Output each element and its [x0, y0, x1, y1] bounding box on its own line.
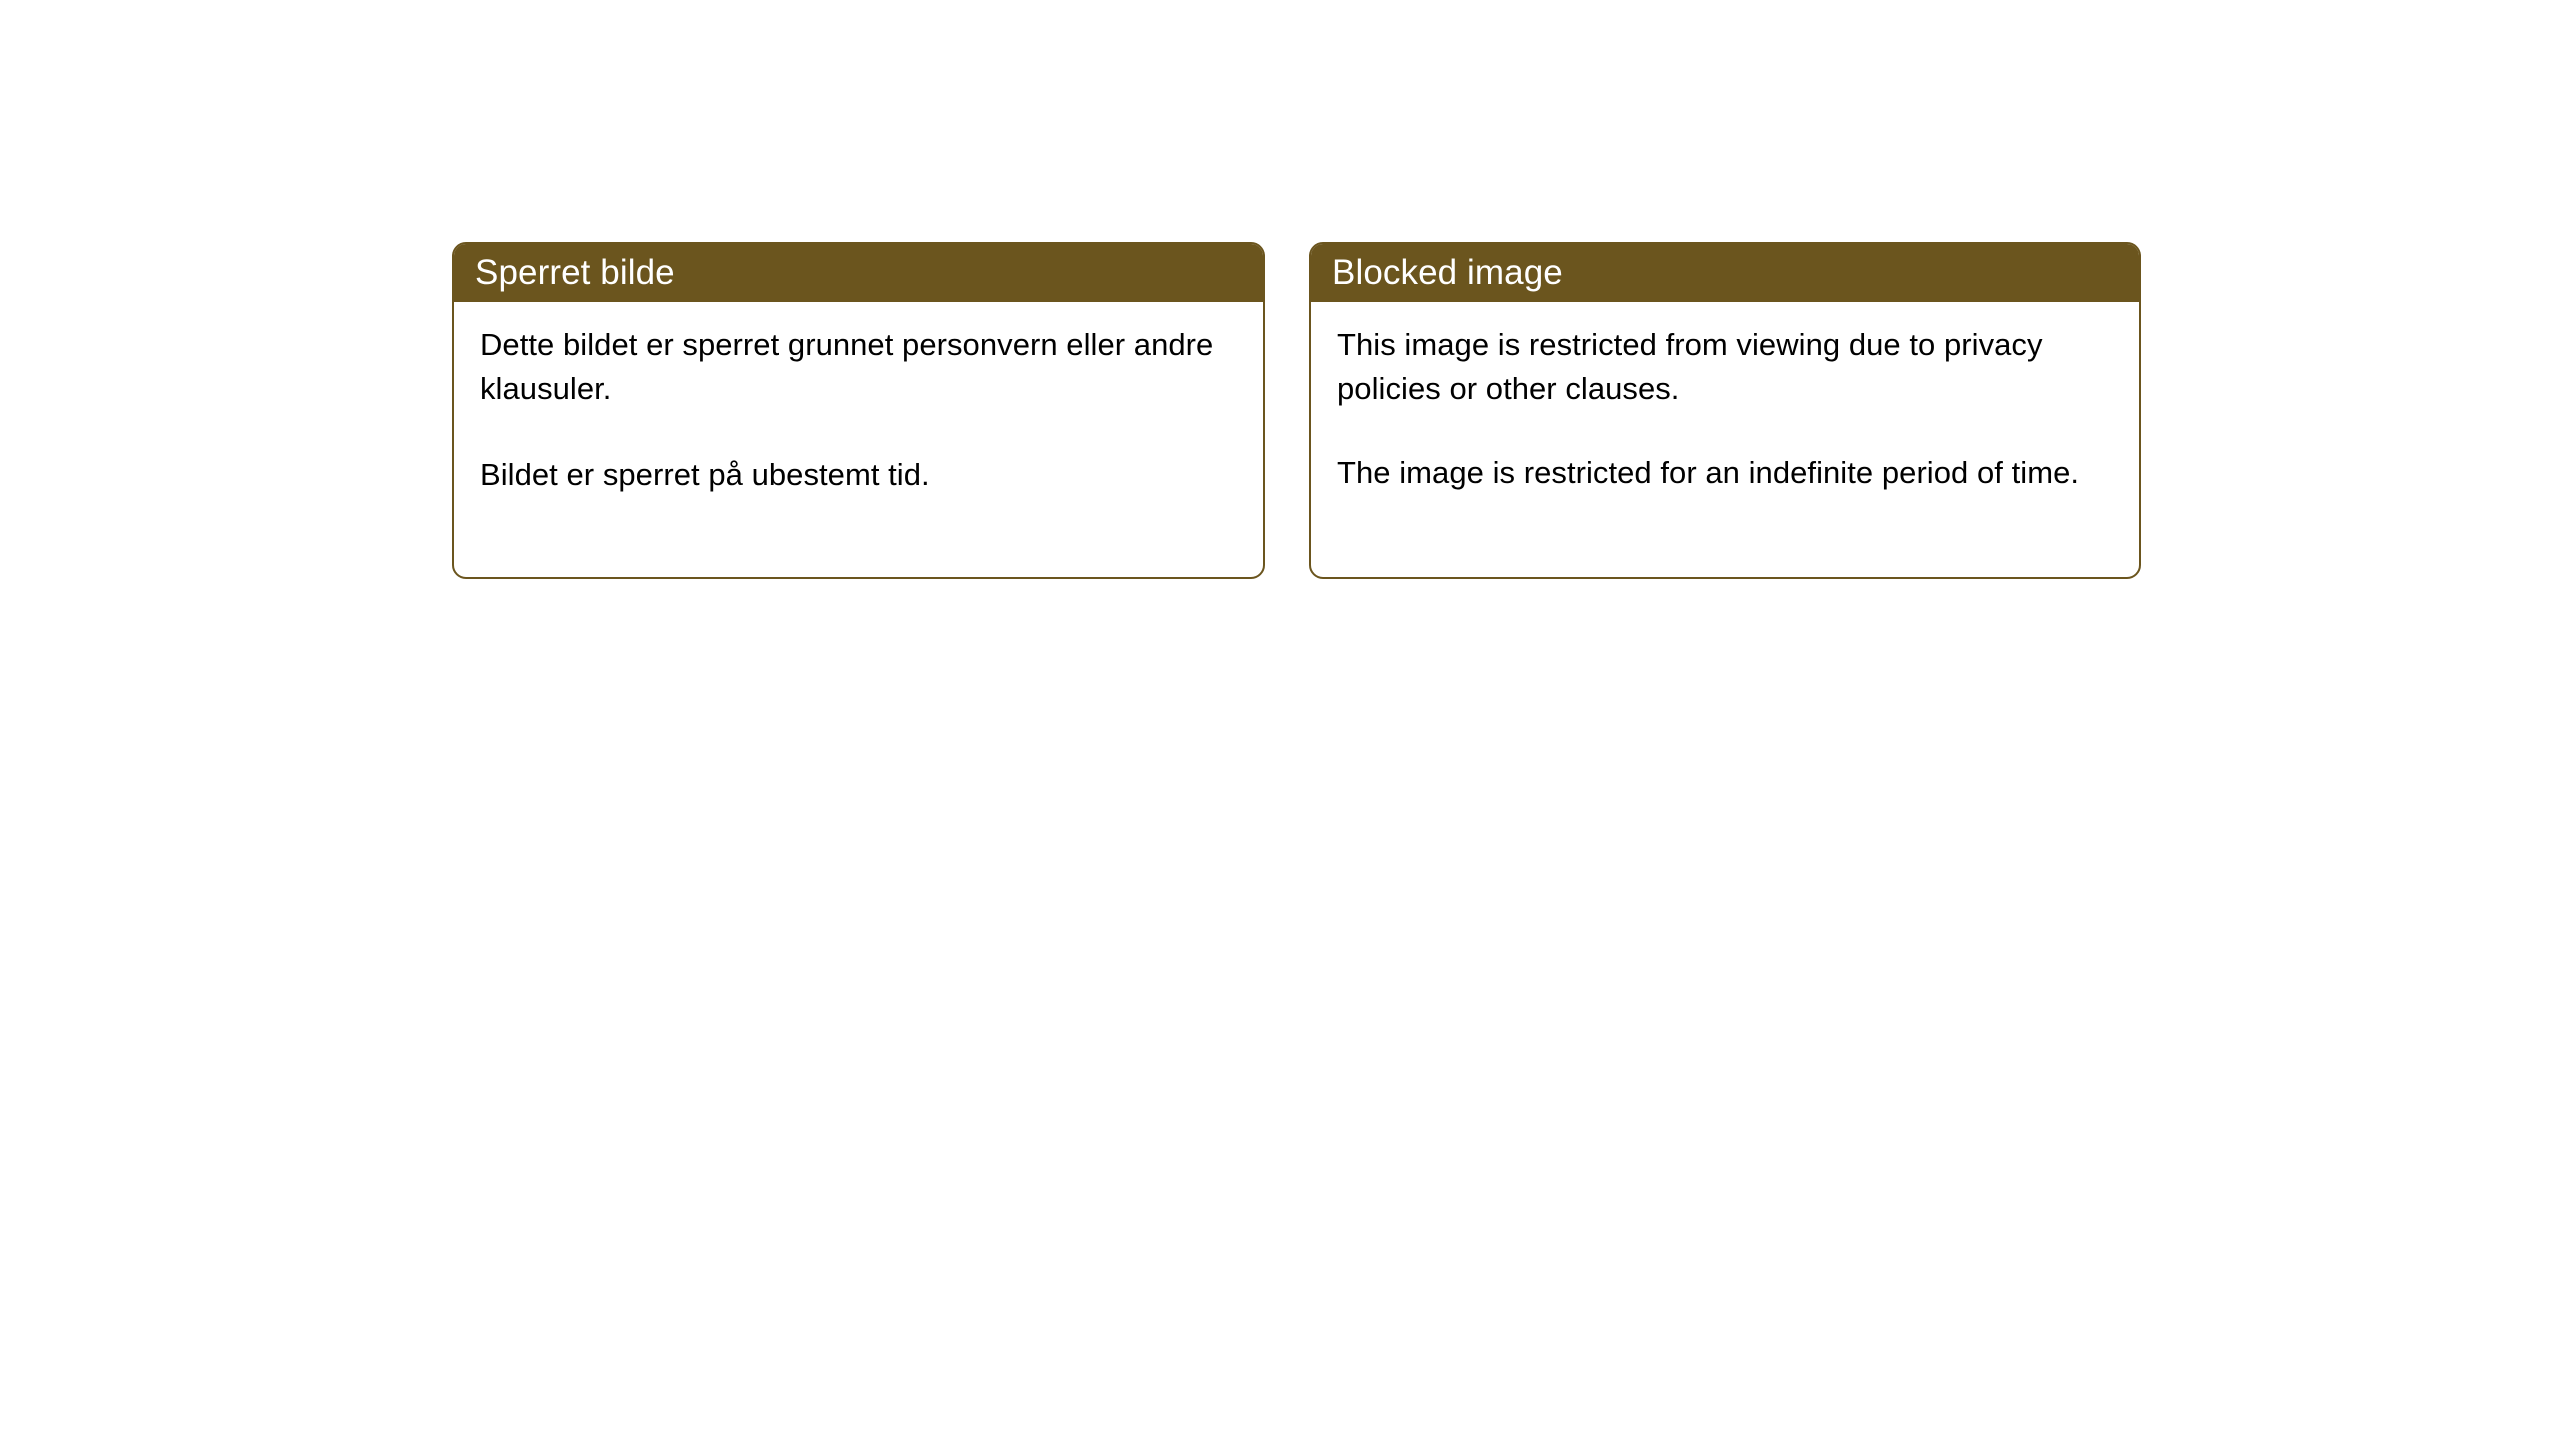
notice-title-no: Sperret bilde	[475, 255, 675, 290]
page-root: Sperret bilde Dette bildet er sperret gr…	[0, 0, 2560, 1440]
notice-title-en: Blocked image	[1332, 255, 1563, 290]
blocked-image-notice-en: Blocked image This image is restricted f…	[1309, 242, 2141, 579]
notice-body-en: This image is restricted from viewing du…	[1311, 302, 2139, 495]
notice-paragraph-reason-no: Dette bildet er sperret grunnet personve…	[480, 323, 1237, 411]
notice-paragraph-duration-no: Bildet er sperret på ubestemt tid.	[480, 453, 1237, 497]
notice-body-no: Dette bildet er sperret grunnet personve…	[454, 302, 1263, 497]
blocked-image-notice-no: Sperret bilde Dette bildet er sperret gr…	[452, 242, 1265, 579]
notice-paragraph-duration-en: The image is restricted for an indefinit…	[1337, 451, 2113, 495]
notice-header-no: Sperret bilde	[452, 242, 1265, 302]
notice-paragraph-reason-en: This image is restricted from viewing du…	[1337, 323, 2113, 411]
notice-header-en: Blocked image	[1309, 242, 2141, 302]
